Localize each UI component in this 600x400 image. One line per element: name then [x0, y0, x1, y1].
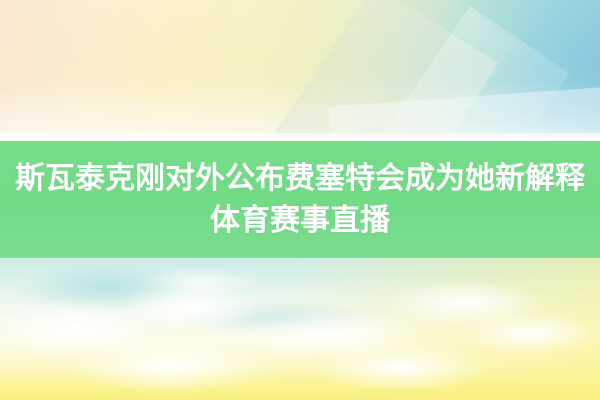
cloud-decoration	[440, 306, 600, 360]
cloud-decoration	[286, 336, 516, 400]
band-top-highlight	[0, 133, 600, 141]
bottom-cloud-background	[0, 258, 600, 400]
top-gradient-background	[0, 0, 600, 141]
headline-band: 斯瓦泰克刚对外公布费塞特会成为她新解释体育赛事直播	[0, 141, 600, 258]
blue-haze-decoration	[150, 296, 410, 340]
headline-title: 斯瓦泰克刚对外公布费塞特会成为她新解释体育赛事直播	[5, 158, 595, 242]
promo-banner: 斯瓦泰克刚对外公布费塞特会成为她新解释体育赛事直播	[0, 0, 600, 400]
cloud-decoration	[40, 332, 300, 400]
